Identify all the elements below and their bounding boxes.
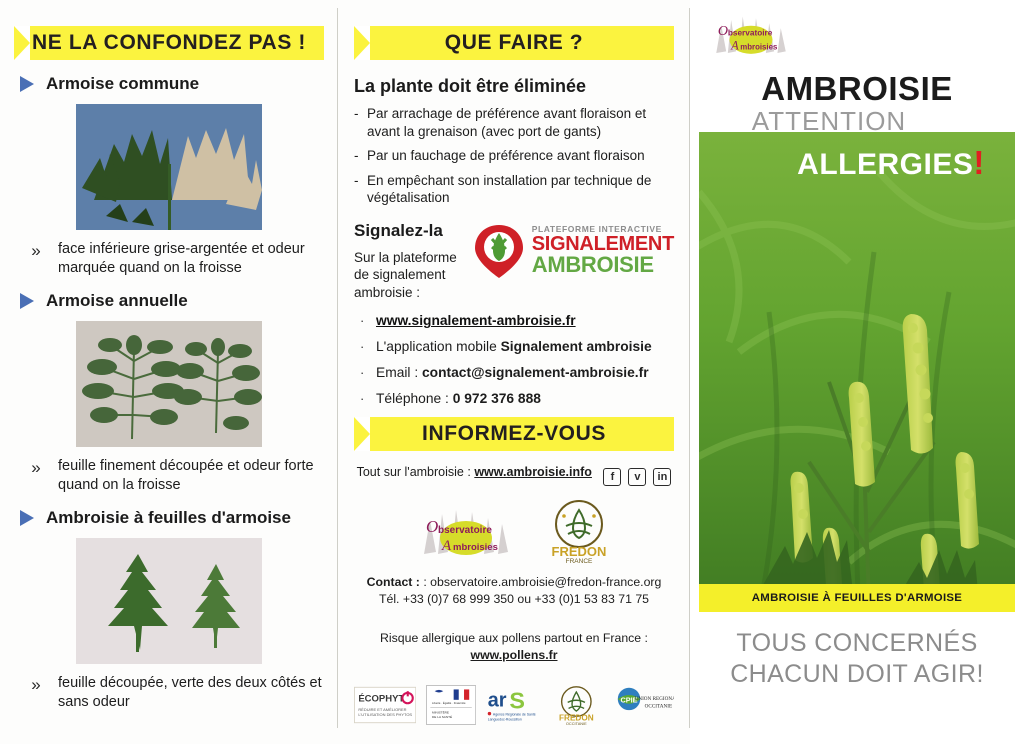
trait-text: feuille finement découpée et odeur forte…	[58, 457, 324, 494]
svg-text:bservatoire: bservatoire	[728, 29, 773, 38]
armoise-annuelle-leaf-illustration	[76, 321, 262, 447]
social-links: f ᴠ in	[603, 468, 671, 486]
cover-photo-ambroisie: ALLERGIES! AMBROISIE À FEUILLES D'ARMOIS…	[699, 132, 1015, 612]
double-chevron-icon: »	[24, 674, 48, 711]
triangle-bullet-icon	[20, 510, 34, 526]
banner-title-left: NE LA CONFONDEZ PAS !	[32, 31, 306, 55]
channel-prefix: L'application mobile	[376, 339, 501, 354]
method-text: Par un fauchage de préférence avant flor…	[367, 147, 645, 165]
panel-ne-la-confondez-pas: NE LA CONFONDEZ PAS ! Armoise commune	[0, 0, 338, 744]
svg-text:Agence Régionale de Santé: Agence Régionale de Santé	[493, 712, 536, 716]
observatoire-des-ambroisies-logo: O bservatoire A mbroisies	[708, 6, 794, 62]
channel-email[interactable]: · Email : contact@signalement-ambroisie.…	[354, 365, 674, 380]
trait-armoise-commune: » face inférieure grise-argentée et odeu…	[24, 240, 324, 277]
species-block-armoise-commune: Armoise commune	[14, 74, 324, 277]
photo-armoise-annuelle	[76, 321, 262, 447]
svg-text:bservatoire: bservatoire	[438, 525, 492, 536]
signalez-section: Signalez-la Sur la plateforme de signale…	[354, 221, 674, 302]
map-pin-leaf-icon	[472, 223, 526, 279]
svg-text:S: S	[510, 687, 526, 713]
svg-text:ÉCOPHYT: ÉCOPHYT	[358, 694, 404, 705]
svg-text:mbroisies: mbroisies	[453, 542, 498, 553]
channel-prefix: Email :	[376, 365, 422, 380]
banner-que-faire: QUE FAIRE ?	[354, 26, 674, 60]
slogan-line-1: TOUS CONCERNÉS	[690, 628, 1024, 659]
triangle-bullet-icon	[20, 76, 34, 92]
contact-phones: Tél. +33 (0)7 68 999 350 ou +33 (0)1 53 …	[354, 591, 674, 608]
species-head: Armoise annuelle	[14, 291, 324, 311]
trait-armoise-annuelle: » feuille finement découpée et odeur for…	[24, 457, 324, 494]
svg-text:ar: ar	[488, 690, 507, 712]
channel-website[interactable]: · www.signalement-ambroisie.fr	[354, 313, 674, 328]
svg-text:FREDON: FREDON	[552, 544, 607, 559]
dot-bullet-icon: ·	[360, 391, 366, 406]
trait-text: face inférieure grise-argentée et odeur …	[58, 240, 324, 277]
svg-text:L'UTILISATION DES PHYTOS: L'UTILISATION DES PHYTOS	[358, 712, 412, 717]
trait-text: feuille découpée, verte des deux côtés e…	[58, 674, 324, 711]
method-item: - En empêchant son installation par tech…	[354, 172, 674, 207]
armoise-commune-leaf-illustration	[76, 104, 262, 230]
banner-title-que-faire: QUE FAIRE ?	[445, 31, 583, 55]
contact-block: Contact : : observatoire.ambroisie@fredo…	[354, 574, 674, 607]
photo-caption-band: AMBROISIE À FEUILLES D'ARMOISE	[699, 584, 1015, 612]
svg-text:O: O	[718, 23, 728, 39]
svg-text:OCCITANIE: OCCITANIE	[566, 721, 587, 726]
allergies-word: ALLERGIES	[797, 148, 973, 181]
fredon-occitanie-logo: FREDON OCCITANIE	[553, 682, 600, 728]
dot-bullet-icon: ·	[360, 313, 366, 328]
slogan-line-2: CHACUN DOIT AGIR!	[690, 659, 1024, 690]
pollens-link[interactable]: www.pollens.fr	[354, 647, 674, 664]
methods-list: - Par arrachage de préférence avant flor…	[354, 105, 674, 207]
species-head: Armoise commune	[14, 74, 324, 94]
facebook-icon[interactable]: f	[603, 468, 621, 486]
logo-line-signalement: SIGNALEMENT	[532, 234, 674, 254]
trait-ambroisie: » feuille découpée, verte des deux côtés…	[24, 674, 324, 711]
panel-que-faire: QUE FAIRE ? La plante doit être éliminée…	[338, 0, 690, 744]
svg-text:OCCITANIE: OCCITANIE	[645, 704, 672, 710]
cover-slogan: TOUS CONCERNÉS CHACUN DOIT AGIR!	[690, 628, 1024, 691]
ecophyto-logo: ÉCOPHYT RÉDUIRE ET AMÉLIORER L'UTILISATI…	[354, 684, 416, 726]
info-prefix: Tout sur l'ambroisie :	[357, 465, 475, 479]
channel-value: 0 972 376 888	[453, 391, 541, 406]
dot-bullet-icon: ·	[360, 339, 366, 354]
dash-bullet-icon: -	[354, 172, 362, 207]
union-regionale-occitanie-logo: CPIE UNION REGIONALE OCCITANIE	[610, 683, 674, 727]
svg-text:A: A	[441, 538, 452, 554]
ars-occitanie-logo: ar S Agence Régionale de Santé Languedoc…	[486, 683, 543, 727]
svg-text:O: O	[426, 517, 438, 536]
panel-cover: O bservatoire A mbroisies AMBROISIE ATTE…	[690, 0, 1024, 744]
channel-mobile-app: · L'application mobile Signalement ambro…	[354, 339, 674, 354]
cover-title-ambroisie: AMBROISIE	[690, 72, 1024, 106]
heading-plante-eliminee: La plante doit être éliminée	[354, 76, 674, 97]
signalement-ambroisie-logo: PLATEFORME INTERACTIVE SIGNALEMENT AMBRO…	[472, 223, 674, 279]
ambroisie-plant-photo-illustration	[699, 132, 1015, 612]
species-block-ambroisie: Ambroisie à feuilles d'armoise	[14, 508, 324, 711]
banner-title-informez: INFORMEZ-VOUS	[422, 422, 606, 446]
signalez-subtitle: Sur la plateforme de signalement ambrois…	[354, 249, 472, 302]
svg-text:RÉDUIRE ET AMÉLIORER: RÉDUIRE ET AMÉLIORER	[358, 707, 406, 712]
cover-subtitle-attention: ATTENTION	[690, 108, 968, 135]
svg-text:DE LA SANTÉ: DE LA SANTÉ	[432, 714, 452, 719]
species-name-label: Ambroisie à feuilles d'armoise	[46, 508, 291, 528]
dash-bullet-icon: -	[354, 105, 362, 140]
pollens-line: Risque allergique aux pollens partout en…	[354, 630, 674, 647]
info-link[interactable]: www.ambroisie.info	[474, 465, 592, 479]
photo-armoise-commune	[76, 104, 262, 230]
ambroisie-leaf-illustration	[76, 538, 262, 664]
species-block-armoise-annuelle: Armoise annuelle	[14, 291, 324, 494]
channel-phone: · Téléphone : 0 972 376 888	[354, 391, 674, 406]
channel-value: Signalement ambroisie	[501, 339, 652, 354]
channel-value[interactable]: contact@signalement-ambroisie.fr	[422, 365, 649, 380]
cover-title-allergies: ALLERGIES!	[733, 144, 1015, 182]
species-name-label: Armoise annuelle	[46, 291, 188, 311]
brochure-page: NE LA CONFONDEZ PAS ! Armoise commune	[0, 0, 1024, 744]
svg-text:A: A	[730, 39, 739, 53]
double-chevron-icon: »	[24, 240, 48, 277]
dash-bullet-icon: -	[354, 147, 362, 165]
method-text: Par arrachage de préférence avant florai…	[367, 105, 674, 140]
pollens-block: Risque allergique aux pollens partout en…	[354, 630, 674, 664]
partner-logos: ÉCOPHYT RÉDUIRE ET AMÉLIORER L'UTILISATI…	[354, 682, 674, 728]
species-head: Ambroisie à feuilles d'armoise	[14, 508, 324, 528]
svg-text:UNION REGIONALE: UNION REGIONALE	[635, 696, 674, 702]
cover-title-group: AMBROISIE ATTENTION	[690, 72, 1024, 135]
exclamation-mark: !	[973, 144, 985, 181]
species-name-label: Armoise commune	[46, 74, 199, 94]
svg-text:FRANCE: FRANCE	[566, 558, 593, 564]
republique-francaise-logo: Liberté · Égalité · Fraternité MINISTÈRE…	[426, 682, 476, 728]
channel-link[interactable]: www.signalement-ambroisie.fr	[376, 313, 576, 328]
method-item: - Par un fauchage de préférence avant fl…	[354, 147, 674, 165]
channel-prefix: Téléphone :	[376, 391, 453, 406]
triangle-bullet-icon	[20, 293, 34, 309]
observatoire-des-ambroisies-logo: O bservatoire A mbroisies	[414, 500, 518, 562]
linkedin-icon[interactable]: in	[653, 468, 671, 486]
photo-caption-text: AMBROISIE À FEUILLES D'ARMOISE	[752, 592, 962, 604]
double-chevron-icon: »	[24, 457, 48, 494]
info-ambroisie-line: Tout sur l'ambroisie : www.ambroisie.inf…	[354, 465, 674, 486]
channels-list: · www.signalement-ambroisie.fr · L'appli…	[354, 313, 674, 406]
contact-label: Contact :	[367, 575, 420, 589]
twitter-icon[interactable]: ᴠ	[628, 468, 646, 486]
fredon-france-logo: FREDON FRANCE	[544, 498, 614, 564]
method-item: - Par arrachage de préférence avant flor…	[354, 105, 674, 140]
photo-ambroisie-feuilles-armoise	[76, 538, 262, 664]
banner-informez-vous: INFORMEZ-VOUS	[354, 417, 674, 451]
dot-bullet-icon: ·	[360, 365, 366, 380]
logo-line-ambroisie: AMBROISIE	[532, 254, 674, 276]
organisation-logos: O bservatoire A mbroisies FREDON FRANCE	[354, 498, 674, 564]
method-text: En empêchant son installation par techni…	[367, 172, 674, 207]
banner-ne-la-confondez-pas: NE LA CONFONDEZ PAS !	[14, 26, 324, 60]
svg-text:mbroisies: mbroisies	[740, 43, 778, 52]
svg-text:Languedoc-Roussillon: Languedoc-Roussillon	[488, 718, 522, 722]
svg-text:MINISTÈRE: MINISTÈRE	[432, 710, 449, 715]
contact-email[interactable]: : observatoire.ambroisie@fredon-france.o…	[423, 575, 661, 589]
signalez-title: Signalez-la	[354, 221, 472, 241]
